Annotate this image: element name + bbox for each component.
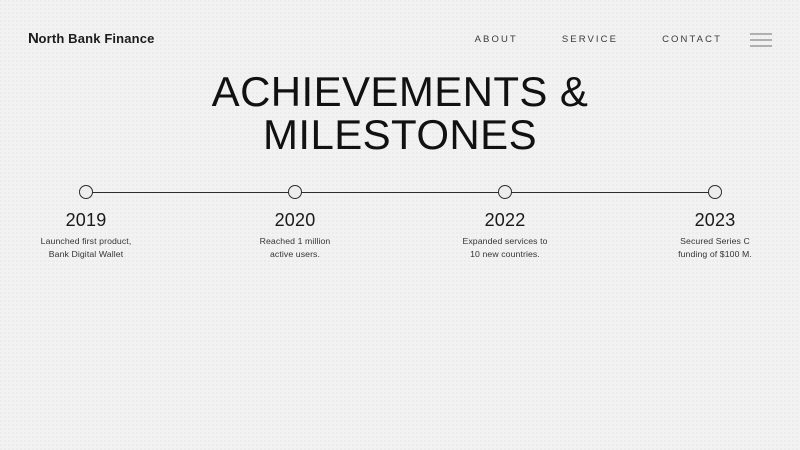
- timeline-node-2023[interactable]: [708, 185, 722, 199]
- timeline-entry-year: 2020: [205, 209, 385, 231]
- nav-item-about[interactable]: ABOUT: [475, 33, 518, 47]
- timeline-entry-description: Launched first product, Bank Digital Wal…: [0, 235, 176, 260]
- brand-logo[interactable]: North Bank Finance: [28, 31, 155, 47]
- hamburger-bar: [750, 45, 772, 47]
- timeline-node-2020[interactable]: [288, 185, 302, 199]
- page-title-line-1: ACHIEVEMENTS &: [0, 70, 800, 113]
- timeline-entry-year: 2023: [625, 209, 800, 231]
- page-title: ACHIEVEMENTS & MILESTONES: [0, 70, 800, 156]
- timeline-entry-2023: 2023 Secured Series C funding of $100 M.: [625, 209, 800, 260]
- timeline-axis-line: [86, 192, 715, 193]
- timeline-node-2019[interactable]: [79, 185, 93, 199]
- main-navigation: ABOUT SERVICE CONTACT: [475, 32, 772, 47]
- nav-item-contact[interactable]: CONTACT: [662, 33, 722, 47]
- page-title-line-2: MILESTONES: [0, 113, 800, 156]
- timeline-entry-2020: 2020 Reached 1 million active users.: [205, 209, 385, 260]
- timeline-entry-description-line-1: Launched first product,: [0, 235, 176, 248]
- timeline-entry-description-line-1: Expanded services to: [415, 235, 595, 248]
- timeline-entry-description-line-2: 10 new countries.: [415, 248, 595, 261]
- brand-initial: N: [28, 30, 39, 47]
- timeline-entry-2022: 2022 Expanded services to 10 new countri…: [415, 209, 595, 260]
- timeline-entry-year: 2019: [0, 209, 176, 231]
- timeline-entry-description-line-2: active users.: [205, 248, 385, 261]
- timeline-entry-description-line-2: funding of $100 M.: [625, 248, 800, 261]
- timeline-entry-2019: 2019 Launched first product, Bank Digita…: [0, 209, 176, 260]
- timeline-entry-description-line-1: Secured Series C: [625, 235, 800, 248]
- hamburger-bar: [750, 33, 772, 35]
- brand-name-rest: orth Bank Finance: [39, 31, 155, 46]
- timeline-entry-description: Expanded services to 10 new countries.: [415, 235, 595, 260]
- page-root: North Bank Finance ABOUT SERVICE CONTACT…: [0, 0, 800, 450]
- timeline-entry-description-line-2: Bank Digital Wallet: [0, 248, 176, 261]
- timeline-node-2022[interactable]: [498, 185, 512, 199]
- timeline-entry-description-line-1: Reached 1 million: [205, 235, 385, 248]
- site-header: North Bank Finance ABOUT SERVICE CONTACT: [0, 0, 800, 78]
- timeline-entry-description: Secured Series C funding of $100 M.: [625, 235, 800, 260]
- hamburger-menu-icon[interactable]: [750, 32, 772, 47]
- nav-item-service[interactable]: SERVICE: [562, 33, 618, 47]
- timeline-entry-year: 2022: [415, 209, 595, 231]
- hamburger-bar: [750, 39, 772, 41]
- milestones-timeline: 2019 Launched first product, Bank Digita…: [0, 185, 800, 305]
- timeline-entry-description: Reached 1 million active users.: [205, 235, 385, 260]
